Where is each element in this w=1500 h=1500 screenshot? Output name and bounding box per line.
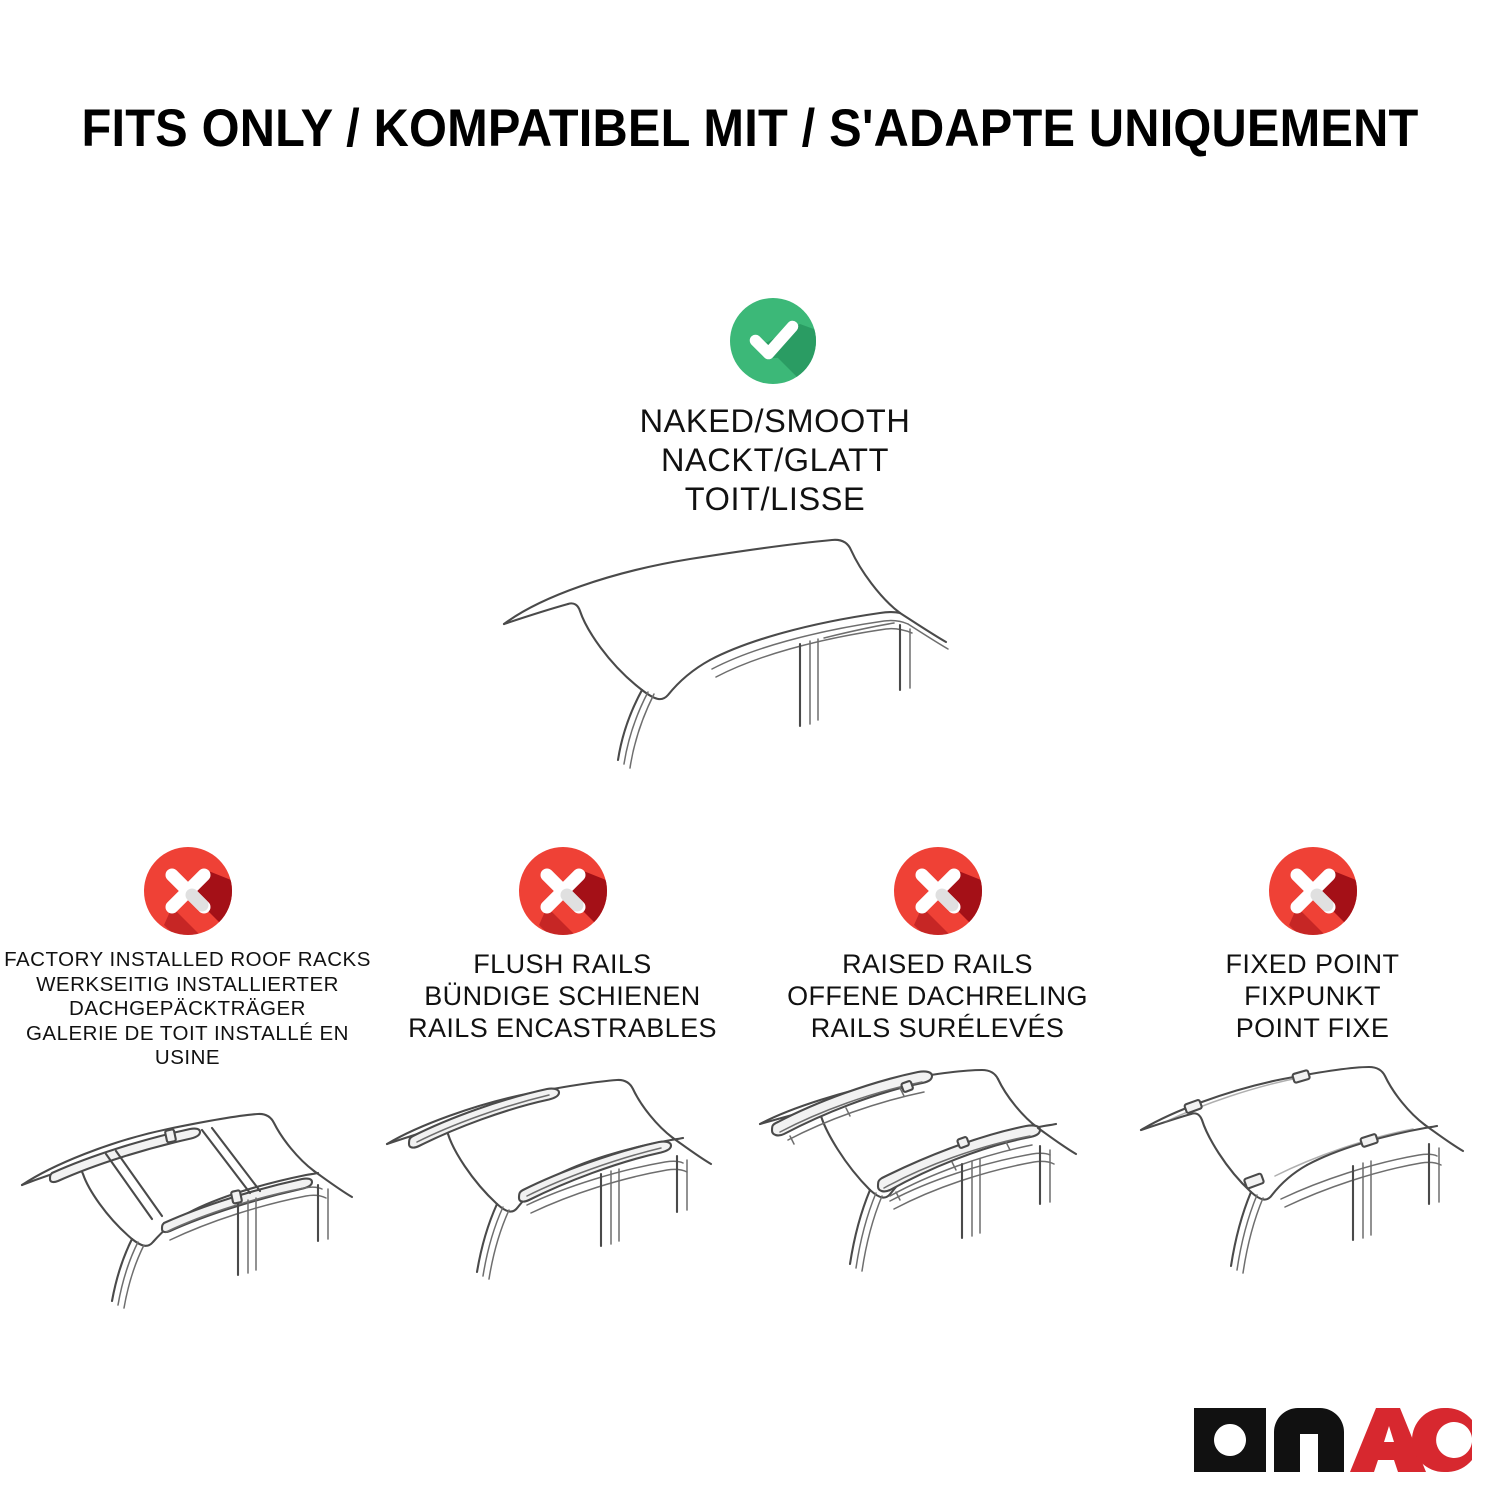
roof-drawing-fixed-point [1125,1058,1500,1288]
label-line-3: POINT FIXE [1226,1012,1400,1044]
fits-label: NAKED/SMOOTH NACKT/GLATT TOIT/LISSE [475,402,1075,519]
label-line-2: FIXPUNKT [1226,980,1400,1012]
incompatible-column-flush-rails: FLUSH RAILS BÜNDIGE SCHIENEN RAILS ENCAS… [375,846,750,1296]
label-line-1: FACTORY INSTALLED ROOF RACKS [0,948,375,973]
column-label-flush-rails: FLUSH RAILS BÜNDIGE SCHIENEN RAILS ENCAS… [408,948,717,1044]
column-label-fixed-point: FIXED POINT FIXPUNKT POINT FIXE [1226,948,1400,1044]
incompatible-row: FACTORY INSTALLED ROOF RACKS WERKSEITIG … [0,846,1500,1315]
x-circle-icon [886,846,990,940]
label-line-3: RAILS SURÉLEVÉS [787,1012,1088,1044]
x-circle-icon [1261,846,1365,940]
fits-label-line-de: NACKT/GLATT [475,441,1075,480]
x-badge-container-1 [136,846,240,942]
incompatible-column-factory-rack: FACTORY INSTALLED ROOF RACKS WERKSEITIG … [0,846,375,1315]
label-line-4: GALERIE DE TOIT INSTALLÉ EN USINE [0,1022,375,1071]
check-badge-container [475,296,1075,394]
page-title: FITS ONLY / KOMPATIBEL MIT / S'ADAPTE UN… [60,98,1440,159]
car-roof-factory-rack-illustration [0,1085,375,1315]
x-badge-container-2 [511,846,615,942]
roof-drawing-naked [480,512,1040,812]
roof-drawing-factory-rack [0,1085,375,1315]
roof-drawing-flush-rails [375,1066,750,1296]
car-roof-flush-rails-illustration [375,1066,750,1296]
label-line-2: WERKSEITIG INSTALLIERTER [0,973,375,998]
column-label-raised-rails: RAISED RAILS OFFENE DACHRELING RAILS SUR… [787,948,1088,1044]
fits-section: NAKED/SMOOTH NACKT/GLATT TOIT/LISSE [475,296,1075,519]
check-circle-icon [720,296,830,394]
label-line-2: OFFENE DACHRELING [787,980,1088,1012]
omac-logo [1190,1402,1472,1478]
label-line-1: FLUSH RAILS [408,948,717,980]
roof-drawing-raised-rails [750,1066,1125,1296]
compatibility-infographic: FITS ONLY / KOMPATIBEL MIT / S'ADAPTE UN… [0,0,1500,1500]
omac-logo-mark [1190,1402,1472,1478]
column-label-factory-rack: FACTORY INSTALLED ROOF RACKS WERKSEITIG … [0,948,375,1071]
header: FITS ONLY / KOMPATIBEL MIT / S'ADAPTE UN… [0,98,1500,159]
label-line-2: BÜNDIGE SCHIENEN [408,980,717,1012]
label-line-3: RAILS ENCASTRABLES [408,1012,717,1044]
incompatible-column-fixed-point: FIXED POINT FIXPUNKT POINT FIXE [1125,846,1500,1288]
fits-label-line-en: NAKED/SMOOTH [475,402,1075,441]
x-badge-container-4 [1261,846,1365,942]
label-line-1: FIXED POINT [1226,948,1400,980]
car-roof-naked-smooth-illustration [480,512,1040,812]
x-badge-container-3 [886,846,990,942]
car-roof-fixed-point-illustration [1125,1058,1500,1288]
label-line-3: DACHGEPÄCKTRÄGER [0,997,375,1022]
car-roof-raised-rails-illustration [750,1066,1125,1296]
x-circle-icon [511,846,615,940]
label-line-1: RAISED RAILS [787,948,1088,980]
x-circle-icon [136,846,240,940]
incompatible-column-raised-rails: RAISED RAILS OFFENE DACHRELING RAILS SUR… [750,846,1125,1296]
